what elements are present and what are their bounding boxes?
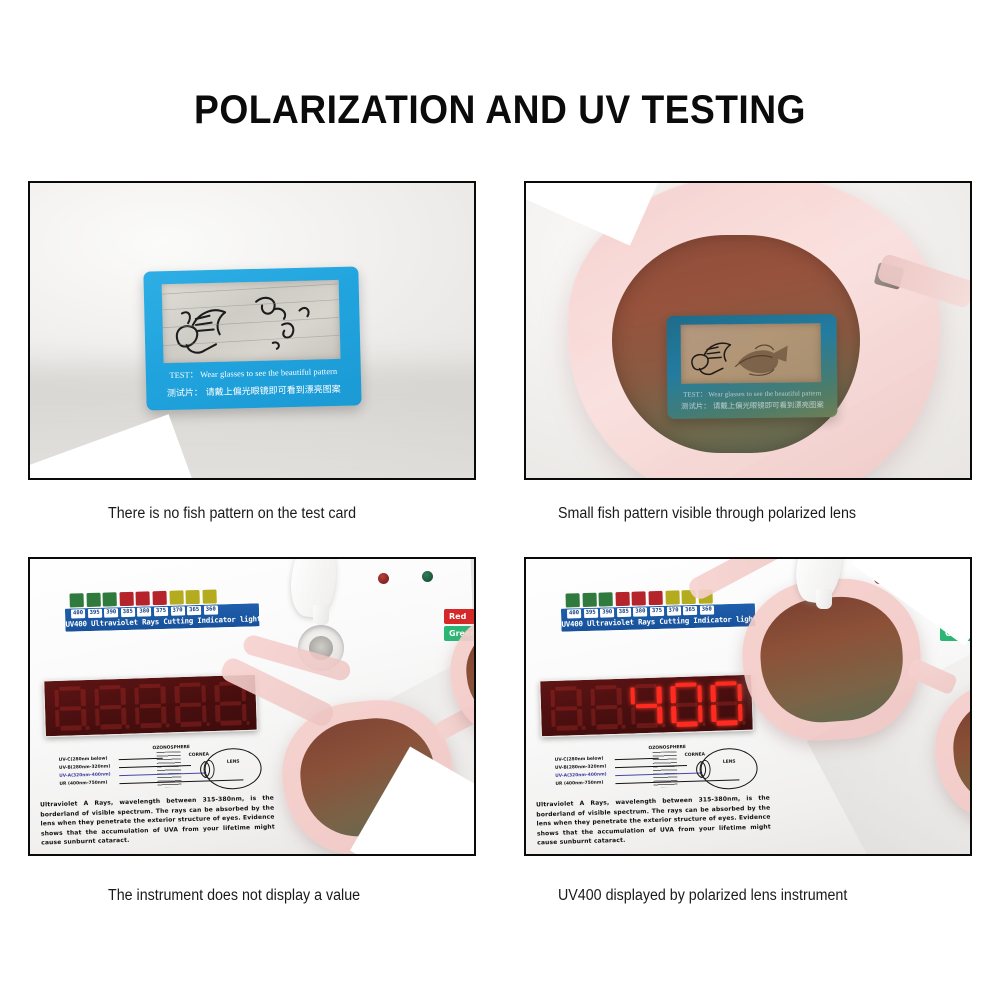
uv-value-400: 400 [567, 609, 581, 618]
led-segment-f [630, 687, 635, 704]
uv-value-400: 400 [71, 609, 85, 618]
red-indicator-led [378, 573, 389, 584]
led-segment-dp [702, 722, 706, 726]
led-segment-dp [86, 726, 90, 730]
led-segment-a [59, 686, 80, 691]
led-digit [134, 683, 166, 728]
led-segment-d [141, 723, 162, 728]
led-segment-f [94, 688, 99, 705]
led-segment-g [636, 703, 657, 708]
uv-swatch-390 [599, 592, 613, 606]
led-segment-c [81, 709, 86, 726]
led-segment-a [99, 684, 120, 689]
uv-swatch-400 [566, 593, 580, 607]
led-segment-g [220, 701, 241, 706]
ray-label-ur: UR (400nm-750nm) [59, 780, 107, 786]
uv-value-365: 365 [187, 606, 201, 615]
uv-value-375: 375 [650, 607, 664, 616]
led-segment-a [139, 683, 160, 688]
led-segment-d [60, 725, 81, 730]
ray-label-uv-a: UV-A(320nm-400nm) [555, 772, 607, 779]
uv-value-395: 395 [88, 609, 102, 618]
test-card-text-en: TEST： Wear glasses to see the beautiful … [146, 364, 361, 381]
led-segment-g [676, 702, 697, 707]
eye-diagram: OZONOSPHERE CORNEA LENS UV-C(280nm below… [36, 741, 275, 796]
ozonosphere-label: OZONOSPHERE [648, 745, 686, 751]
uv-swatch-380 [632, 591, 646, 605]
led-digit [590, 684, 622, 729]
uv-swatch-380 [136, 591, 150, 605]
panel-uv-meter-no-reading: 400395390385380375370365360 UV400 Ultrav… [28, 557, 476, 856]
led-segment-d [100, 724, 121, 729]
led-segment-b [577, 689, 582, 706]
led-segment-f [134, 687, 139, 704]
green-indicator-led [422, 571, 433, 582]
uv-value-375: 375 [154, 607, 168, 616]
led-segment-a [595, 684, 616, 689]
led-segment-d [221, 720, 242, 725]
test-card-text-cn: 测试片： 请戴上偏光眼镜即可看到漂亮图案 [667, 400, 837, 413]
uv-value-370: 370 [666, 606, 680, 615]
uv-value-395: 395 [584, 609, 598, 618]
led-segment-b [617, 687, 622, 704]
uv-value-380: 380 [633, 607, 647, 616]
ray-label-ur: UR (400nm-750nm) [555, 780, 603, 786]
led-segment-c [698, 705, 703, 722]
led-segment-e [551, 709, 556, 726]
led-segment-g [596, 704, 617, 709]
led-segment-f [711, 684, 716, 701]
led-segment-dp [126, 725, 130, 729]
eye-diagram: OZONOSPHERE CORNEA LENS UV-C(280nm below… [532, 741, 771, 796]
uv-info-paragraph: Ultraviolet A Rays, wavelength between 3… [40, 794, 275, 848]
uv-swatch-375 [648, 591, 662, 605]
polarization-test-card-through-lens: TEST： Wear glasses to see the beautiful … [666, 314, 837, 419]
led-segment-b [121, 687, 126, 704]
ray-label-uv-a: UV-A(320nm-400nm) [59, 772, 111, 779]
uv-swatch-385 [615, 592, 629, 606]
led-segment-f [54, 689, 59, 706]
led-segment-d [637, 723, 658, 728]
caption-bottom-right: UV400 displayed by polarized lens instru… [558, 887, 847, 905]
led-segment-g [180, 702, 201, 707]
panel-polarization-through-lens: TEST： Wear glasses to see the beautiful … [524, 181, 972, 480]
led-segment-a [179, 682, 200, 687]
led-digit [94, 684, 126, 729]
led-segment-c [577, 709, 582, 726]
uv-swatch-390 [103, 592, 117, 606]
uv-value-380: 380 [137, 607, 151, 616]
led-segment-f [590, 688, 595, 705]
uv-info-paragraph: Ultraviolet A Rays, wavelength between 3… [536, 794, 771, 848]
led-segment-d [181, 721, 202, 726]
led-segment-e [631, 707, 636, 724]
scribble-pattern-icon [162, 279, 340, 363]
led-segment-d [677, 721, 698, 726]
test-card-text-en: TEST： Wear glasses to see the beautiful … [667, 387, 837, 399]
ray-label-uv-b: UV-B(280nm-320nm) [555, 764, 607, 771]
fish-pattern-icon [681, 324, 821, 384]
eye-cross-section-icon [186, 746, 271, 792]
led-segment-a [555, 686, 576, 691]
led-segment-e [591, 708, 596, 725]
led-segment-c [657, 706, 662, 723]
led-segment-dp [582, 726, 586, 730]
uv400-indicator-strip: 400395390385380375370365360 UV400 Ultrav… [560, 588, 757, 631]
led-display-panel [539, 674, 754, 738]
uv-swatch-375 [152, 591, 166, 605]
led-segment-e [135, 707, 140, 724]
uv-swatch-395 [582, 593, 596, 607]
uv-swatch-385 [119, 592, 133, 606]
led-display-panel [43, 674, 258, 738]
led-segment-g [100, 704, 121, 709]
sunglasses-on-device [251, 623, 476, 856]
uv-value-370: 370 [170, 606, 184, 615]
uv-value-390: 390 [104, 608, 118, 617]
uv400-indicator-strip: 400395390385380375370365360 UV400 Ultrav… [64, 588, 261, 631]
led-segment-f [215, 684, 220, 701]
uv-value-360: 360 [700, 605, 714, 614]
uv-eye-diagram-block: OZONOSPHERE CORNEA LENS UV-C(280nm below… [36, 741, 277, 856]
led-digit [174, 682, 206, 727]
led-segment-e [711, 704, 716, 721]
uv-swatch-370 [169, 590, 183, 604]
uv-value-365: 365 [683, 606, 697, 615]
led-digit [54, 686, 86, 731]
led-segment-d [556, 725, 577, 730]
uv-swatch-365 [186, 590, 200, 604]
led-segment-e [175, 706, 180, 723]
led-segment-f [671, 686, 676, 703]
sunglasses-on-sensor [730, 557, 972, 810]
test-card-window [162, 279, 340, 363]
led-segment-b [657, 686, 662, 703]
panel-polarization-plain-card: TEST： Wear glasses to see the beautiful … [28, 181, 476, 480]
caption-top-left: There is no fish pattern on the test car… [108, 505, 356, 523]
led-segment-a [716, 681, 737, 686]
led-segment-g [60, 706, 81, 711]
caption-top-right: Small fish pattern visible through polar… [558, 505, 856, 523]
test-card-window [681, 324, 821, 384]
led-segment-e [55, 709, 60, 726]
led-segment-e [671, 706, 676, 723]
led-segment-f [175, 686, 180, 703]
led-segment-c [242, 703, 247, 720]
ray-label-uv-c: UV-C(280nm below) [555, 756, 604, 762]
led-segment-c [161, 706, 166, 723]
led-segment-e [95, 708, 100, 725]
led-segment-dp [206, 722, 210, 726]
led-segment-dp [662, 723, 666, 727]
led-segment-d [717, 720, 738, 725]
led-segment-b [201, 685, 206, 702]
uv-value-390: 390 [600, 608, 614, 617]
ray-label-uv-b: UV-B(280nm-320nm) [59, 764, 111, 771]
led-segment-g [556, 706, 577, 711]
led-segment-a [675, 682, 696, 687]
ozonosphere-label: OZONOSPHERE [152, 745, 190, 751]
legend-sticker-red: Red [444, 609, 476, 624]
led-segment-dp [166, 723, 170, 727]
page-title: POLARIZATION AND UV TESTING [35, 88, 965, 133]
page-root: POLARIZATION AND UV TESTING [0, 0, 1000, 1000]
ray-label-uv-c: UV-C(280nm below) [59, 756, 108, 762]
led-segment-e [215, 704, 220, 721]
test-card-text-cn: 测试片： 请戴上偏光眼镜即可看到漂亮图案 [146, 382, 361, 400]
panel-uv-meter-uv400-reading: 400395390385380375370365360 UV400 Ultrav… [524, 557, 972, 856]
led-digit [670, 682, 702, 727]
led-segment-d [596, 724, 617, 729]
uv-value-385: 385 [121, 608, 135, 617]
uv-value-360: 360 [204, 605, 218, 614]
led-segment-dp [246, 721, 250, 725]
uv-value-385: 385 [617, 608, 631, 617]
led-segment-g [140, 703, 161, 708]
led-segment-b [161, 686, 166, 703]
uv-sensor-probe-tip [313, 605, 329, 625]
led-segment-b [81, 689, 86, 706]
led-digit [630, 683, 662, 728]
led-segment-dp [622, 725, 626, 729]
led-segment-c [121, 707, 126, 724]
led-segment-b [697, 685, 702, 702]
uv-swatch-395 [86, 593, 100, 607]
polarization-test-card: TEST： Wear glasses to see the beautiful … [143, 266, 361, 410]
led-segment-a [635, 683, 656, 688]
led-digit [550, 686, 582, 731]
led-segment-c [202, 705, 207, 722]
uv-swatch-360 [202, 589, 216, 603]
led-segment-c [617, 707, 622, 724]
uv-swatch-370 [665, 590, 679, 604]
led-segment-g [716, 701, 737, 706]
uv-sensor-probe-tip [816, 589, 832, 609]
uv-eye-diagram-block: OZONOSPHERE CORNEA LENS UV-C(280nm below… [532, 741, 773, 856]
led-segment-f [550, 689, 555, 706]
uv-swatch-400 [70, 593, 84, 607]
caption-bottom-left: The instrument does not display a value [108, 887, 360, 905]
